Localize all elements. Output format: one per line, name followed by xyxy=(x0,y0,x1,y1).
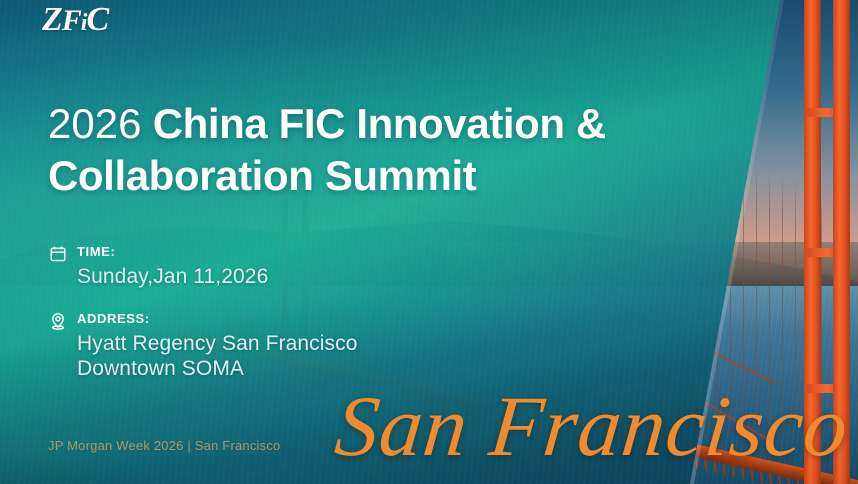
time-row: TIME: xyxy=(48,243,268,264)
time-block: TIME: Sunday,Jan 11,2026 xyxy=(48,243,268,289)
logo-letter-z: Z xyxy=(42,1,62,38)
calendar-icon xyxy=(48,244,68,264)
address-value: Hyatt Regency San Francisco Downtown SOM… xyxy=(77,331,358,381)
address-label: ADDRESS: xyxy=(77,310,150,327)
logo-letter-f: F xyxy=(62,4,81,37)
location-pin-icon xyxy=(48,311,68,331)
san-francisco-script-text: San Francisco xyxy=(331,376,854,476)
address-row: ADDRESS: xyxy=(48,310,358,331)
zfic-logo[interactable]: ZFiC xyxy=(42,1,108,39)
footnote-jp-morgan-week: JP Morgan Week 2026 | San Francisco xyxy=(48,438,280,453)
address-block: ADDRESS: Hyatt Regency San Francisco Dow… xyxy=(48,310,358,381)
event-title: 2026 China FIC Innovation & Collaboratio… xyxy=(48,98,738,202)
time-value: Sunday,Jan 11,2026 xyxy=(77,264,268,289)
time-label: TIME: xyxy=(77,243,115,260)
event-banner: ZFiC 2026 China FIC Innovation & Collabo… xyxy=(0,0,858,484)
banner-content: ZFiC 2026 China FIC Innovation & Collabo… xyxy=(0,0,858,484)
event-year: 2026 xyxy=(48,100,141,147)
logo-letter-c: C xyxy=(86,1,108,38)
